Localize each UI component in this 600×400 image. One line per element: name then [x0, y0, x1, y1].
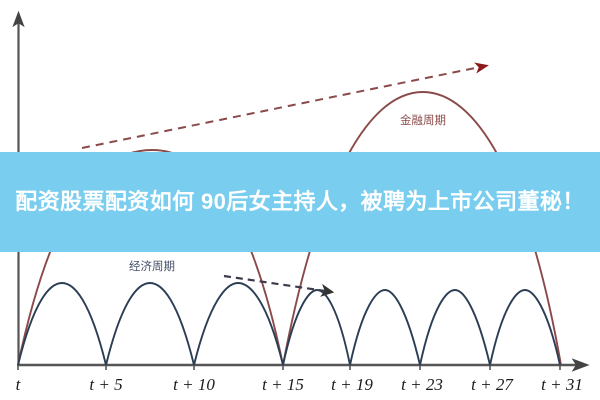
economic-cycle-hump-3	[194, 283, 283, 365]
economic-cycle-label: 经济周期	[129, 259, 175, 273]
economic-cycle-hump-5	[350, 290, 420, 365]
economic-cycle-hump-7	[490, 290, 560, 365]
financial-cycle-label: 金融周期	[400, 113, 446, 127]
chart-screenshot: 金融周期 经济周期 t t + 5 t + 10 t + 15 t + 19 t…	[0, 0, 600, 400]
overlay-caption-text: 配资股票配资如何 90后女主持人，被聘为上市公司董秘！	[10, 185, 590, 219]
x-tick-label-4: t + 19	[331, 375, 373, 394]
x-tick-label-6: t + 27	[471, 375, 514, 394]
x-tick-label-2: t + 10	[173, 375, 215, 394]
economic-cycle-hump-6	[420, 290, 490, 365]
economic-cycle-hump-4	[283, 290, 350, 365]
overlay-caption-banner: 配资股票配资如何 90后女主持人，被聘为上市公司董秘！	[0, 152, 600, 252]
economic-cycle-hump-1	[18, 283, 106, 365]
x-tick-label-0: t	[16, 375, 22, 394]
x-tick-label-5: t + 23	[401, 375, 443, 394]
x-tick-label-3: t + 15	[262, 375, 304, 394]
x-tick-label-1: t + 5	[89, 375, 122, 394]
economic-cycle-hump-2	[106, 283, 194, 365]
x-tick-label-7: t + 31	[541, 375, 583, 394]
financial-cycle-trend-arrow	[82, 66, 485, 148]
